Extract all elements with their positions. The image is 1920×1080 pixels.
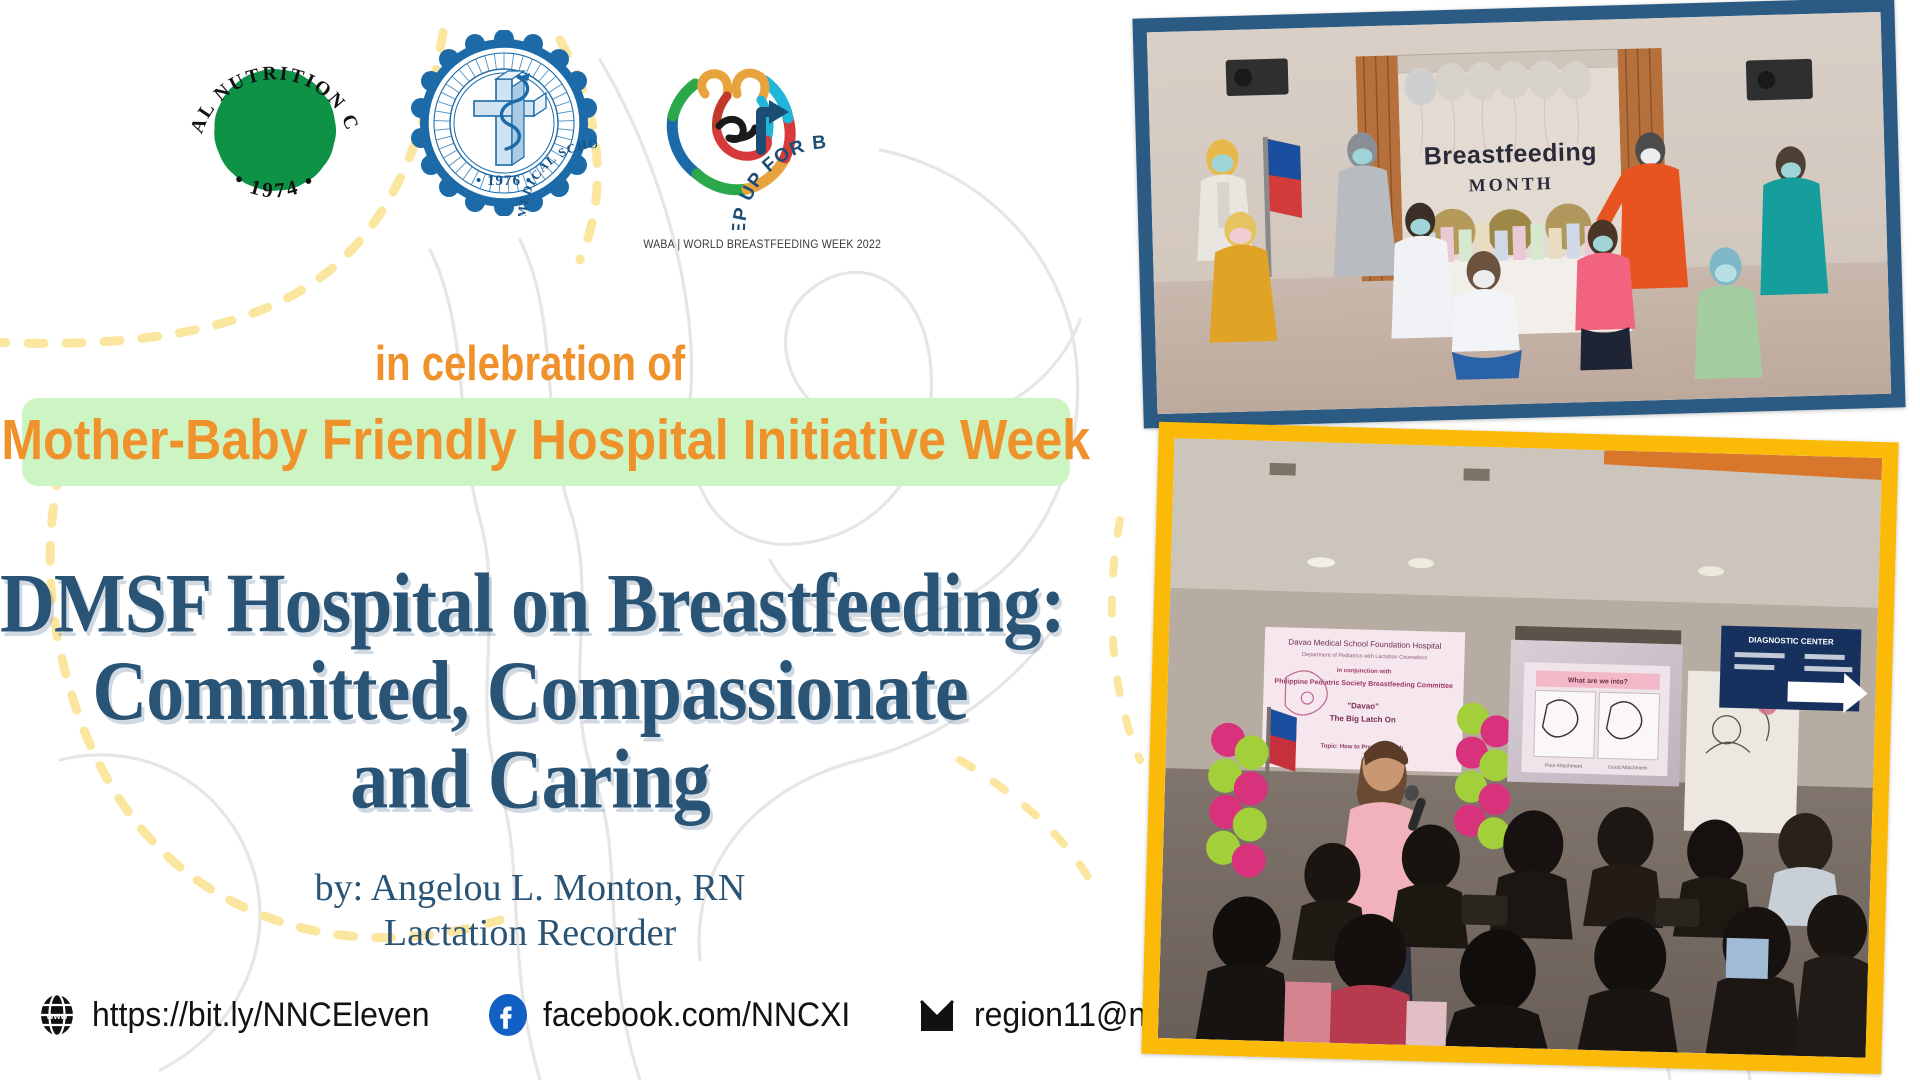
waba-caption: WABA | WORLD BREASTFEEDING WEEK 2022 [643, 239, 881, 251]
breastfeeding-month-group-photo: Breastfeeding MONTH [1132, 0, 1905, 429]
website-contact[interactable]: www https://bit.ly/NNCEleven [34, 992, 451, 1038]
svg-text:"Davao": "Davao" [1347, 701, 1379, 711]
waba-wbw-2022-logo: STEP UP FOR BREASTFEEDING • EDUCATE AND … [633, 30, 891, 251]
waba-ring-top-text: STEP UP FOR BREASTFEEDING [723, 114, 829, 230]
dmsf-year: • 1976 • [476, 173, 532, 189]
website-text: https://bit.ly/NNCEleven [92, 996, 429, 1035]
title-line-3: and Caring [0, 735, 1060, 823]
poster-left-column: NATIONAL NUTRITION COUNCIL • 1974 • [0, 0, 1140, 1080]
facebook-icon [485, 992, 531, 1038]
dmsf-hospital-seal: DAVAO MEDICAL SCHOOL FOUNDATION, INC. • … [411, 30, 597, 221]
byline: by: Angelou L. Monton, RN Lactation Reco… [0, 866, 1060, 956]
backdrop-title: Breastfeeding [1423, 138, 1597, 171]
lactation-seminar-photo: Davao Medical School Foundation Hospital… [1141, 422, 1898, 1074]
facebook-text: facebook.com/NNCXI [543, 996, 850, 1035]
svg-text:STEP UP FOR BREASTFEEDING: STEP UP FOR BREASTFEEDING [723, 114, 829, 230]
globe-icon: www [34, 992, 80, 1038]
facebook-contact[interactable]: facebook.com/NNCXI [485, 992, 870, 1038]
national-nutrition-council-logo: NATIONAL NUTRITION COUNCIL • 1974 • [175, 30, 375, 235]
event-banner: Mother-Baby Friendly Hospital Initiative… [22, 398, 1070, 486]
svg-text:Good Attachment: Good Attachment [1608, 764, 1647, 771]
celebration-label: in celebration of [95, 336, 964, 392]
logo-row: NATIONAL NUTRITION COUNCIL • 1974 • [175, 30, 891, 251]
backdrop-subtitle: MONTH [1468, 173, 1554, 195]
page-title: DMSF Hospital on Breastfeeding: Committe… [0, 560, 1060, 823]
event-banner-text: Mother-Baby Friendly Hospital Initiative… [2, 412, 1091, 472]
title-line-1: DMSF Hospital on Breastfeeding: [0, 560, 1060, 648]
svg-text:Poor Attachment: Poor Attachment [1545, 763, 1583, 770]
title-line-2: Committed, Compassionate [0, 648, 1060, 736]
svg-text:The Big Latch On: The Big Latch On [1330, 714, 1397, 725]
svg-text:www: www [45, 1011, 68, 1021]
byline-author: by: Angelou L. Monton, RN [0, 866, 1060, 911]
footer-contact-bar: www https://bit.ly/NNCEleven facebook.co… [34, 990, 1302, 1040]
byline-role: Lactation Recorder [0, 911, 1060, 956]
envelope-icon [912, 990, 962, 1040]
